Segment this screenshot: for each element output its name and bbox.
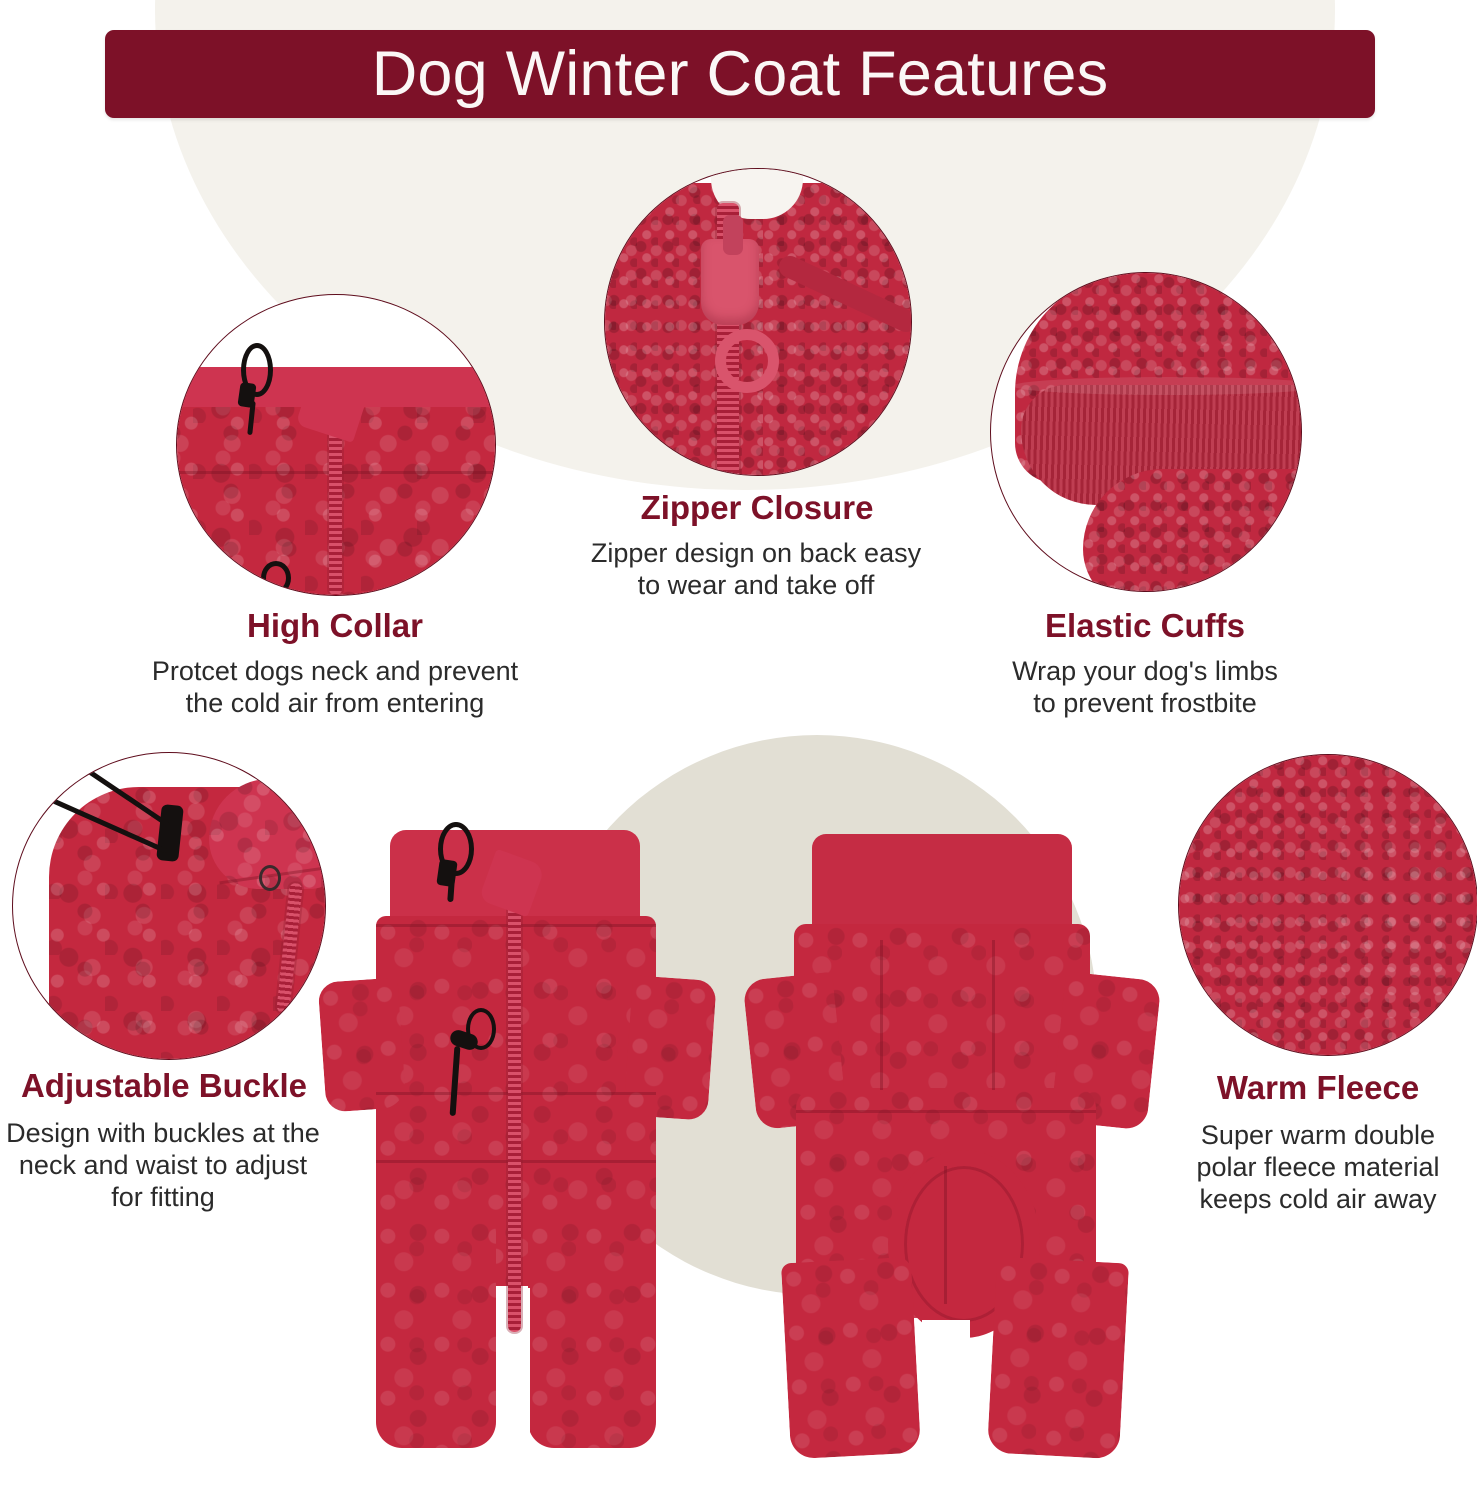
infographic-canvas: Dog Winter Coat Features High Collar Pro… (0, 0, 1477, 1500)
feature-desc-adjustable-buckle: Design with buckles at the neck and wais… (4, 1118, 322, 1214)
collar-zipper (329, 423, 342, 595)
back-left-panel-seam (880, 940, 883, 1090)
feature-desc-line: to prevent frostbite (985, 688, 1305, 720)
feature-desc-line: Super warm double (1168, 1120, 1468, 1152)
feature-desc-line: to wear and take off (556, 570, 956, 602)
feature-desc-line: polar fleece material (1168, 1152, 1468, 1184)
collar-lower-eyelet (261, 561, 291, 595)
feature-desc-warm-fleece: Super warm double polar fleece material … (1168, 1120, 1468, 1216)
zipper-right-panel (763, 183, 912, 476)
cuff-highlight (1013, 377, 1302, 395)
back-collar-band (812, 834, 1072, 934)
feature-title-elastic-cuffs: Elastic Cuffs (990, 608, 1300, 644)
feature-title-zipper-closure: Zipper Closure (600, 490, 914, 526)
back-waist-seam (796, 1110, 1096, 1113)
front-left-leg (376, 1220, 496, 1448)
feature-desc-line: Wrap your dog's limbs (985, 656, 1305, 688)
back-opening-center-seam (944, 1166, 947, 1304)
feature-title-warm-fleece: Warm Fleece (1168, 1070, 1468, 1106)
feature-image-warm-fleece (1178, 754, 1477, 1056)
zipper-pull-ring (715, 329, 779, 393)
feature-desc-line: keeps cold air away (1168, 1184, 1468, 1216)
warm-fleece-texture (1179, 755, 1477, 1055)
feature-desc-elastic-cuffs: Wrap your dog's limbs to prevent frostbi… (985, 656, 1305, 720)
back-left-leg (781, 1257, 921, 1460)
feature-desc-line: for fitting (4, 1182, 322, 1214)
back-right-leg (987, 1257, 1129, 1460)
front-right-leg (528, 1220, 656, 1448)
buckle-eyelet (259, 865, 281, 891)
feature-desc-zipper-closure: Zipper design on back easy to wear and t… (556, 538, 956, 602)
back-right-panel-seam (992, 940, 995, 1090)
feature-image-adjustable-buckle (12, 752, 326, 1060)
feature-image-high-collar (176, 294, 496, 596)
feature-desc-line: neck and waist to adjust (4, 1150, 322, 1182)
zipper-slider-tab (723, 215, 743, 255)
feature-image-zipper-closure (604, 168, 912, 476)
feature-title-high-collar: High Collar (176, 608, 494, 644)
product-image-front-view (310, 820, 710, 1460)
feature-desc-line: the cold air from entering (126, 688, 544, 720)
feature-desc-line: Design with buckles at the (4, 1118, 322, 1150)
product-image-back-view (760, 820, 1160, 1460)
title-bar: Dog Winter Coat Features (105, 30, 1375, 118)
back-leg-gap (922, 1320, 970, 1460)
page-title: Dog Winter Coat Features (372, 43, 1109, 106)
cuff-lower-fold (1083, 469, 1302, 592)
front-right-sleeve (623, 975, 717, 1121)
front-center-zipper (508, 892, 521, 1332)
feature-desc-line: Protcet dogs neck and prevent (126, 656, 544, 688)
feature-desc-line: Zipper design on back easy (556, 538, 956, 570)
feature-image-elastic-cuffs (990, 272, 1302, 592)
feature-title-adjustable-buckle: Adjustable Buckle (8, 1068, 320, 1104)
feature-desc-high-collar: Protcet dogs neck and prevent the cold a… (126, 656, 544, 720)
